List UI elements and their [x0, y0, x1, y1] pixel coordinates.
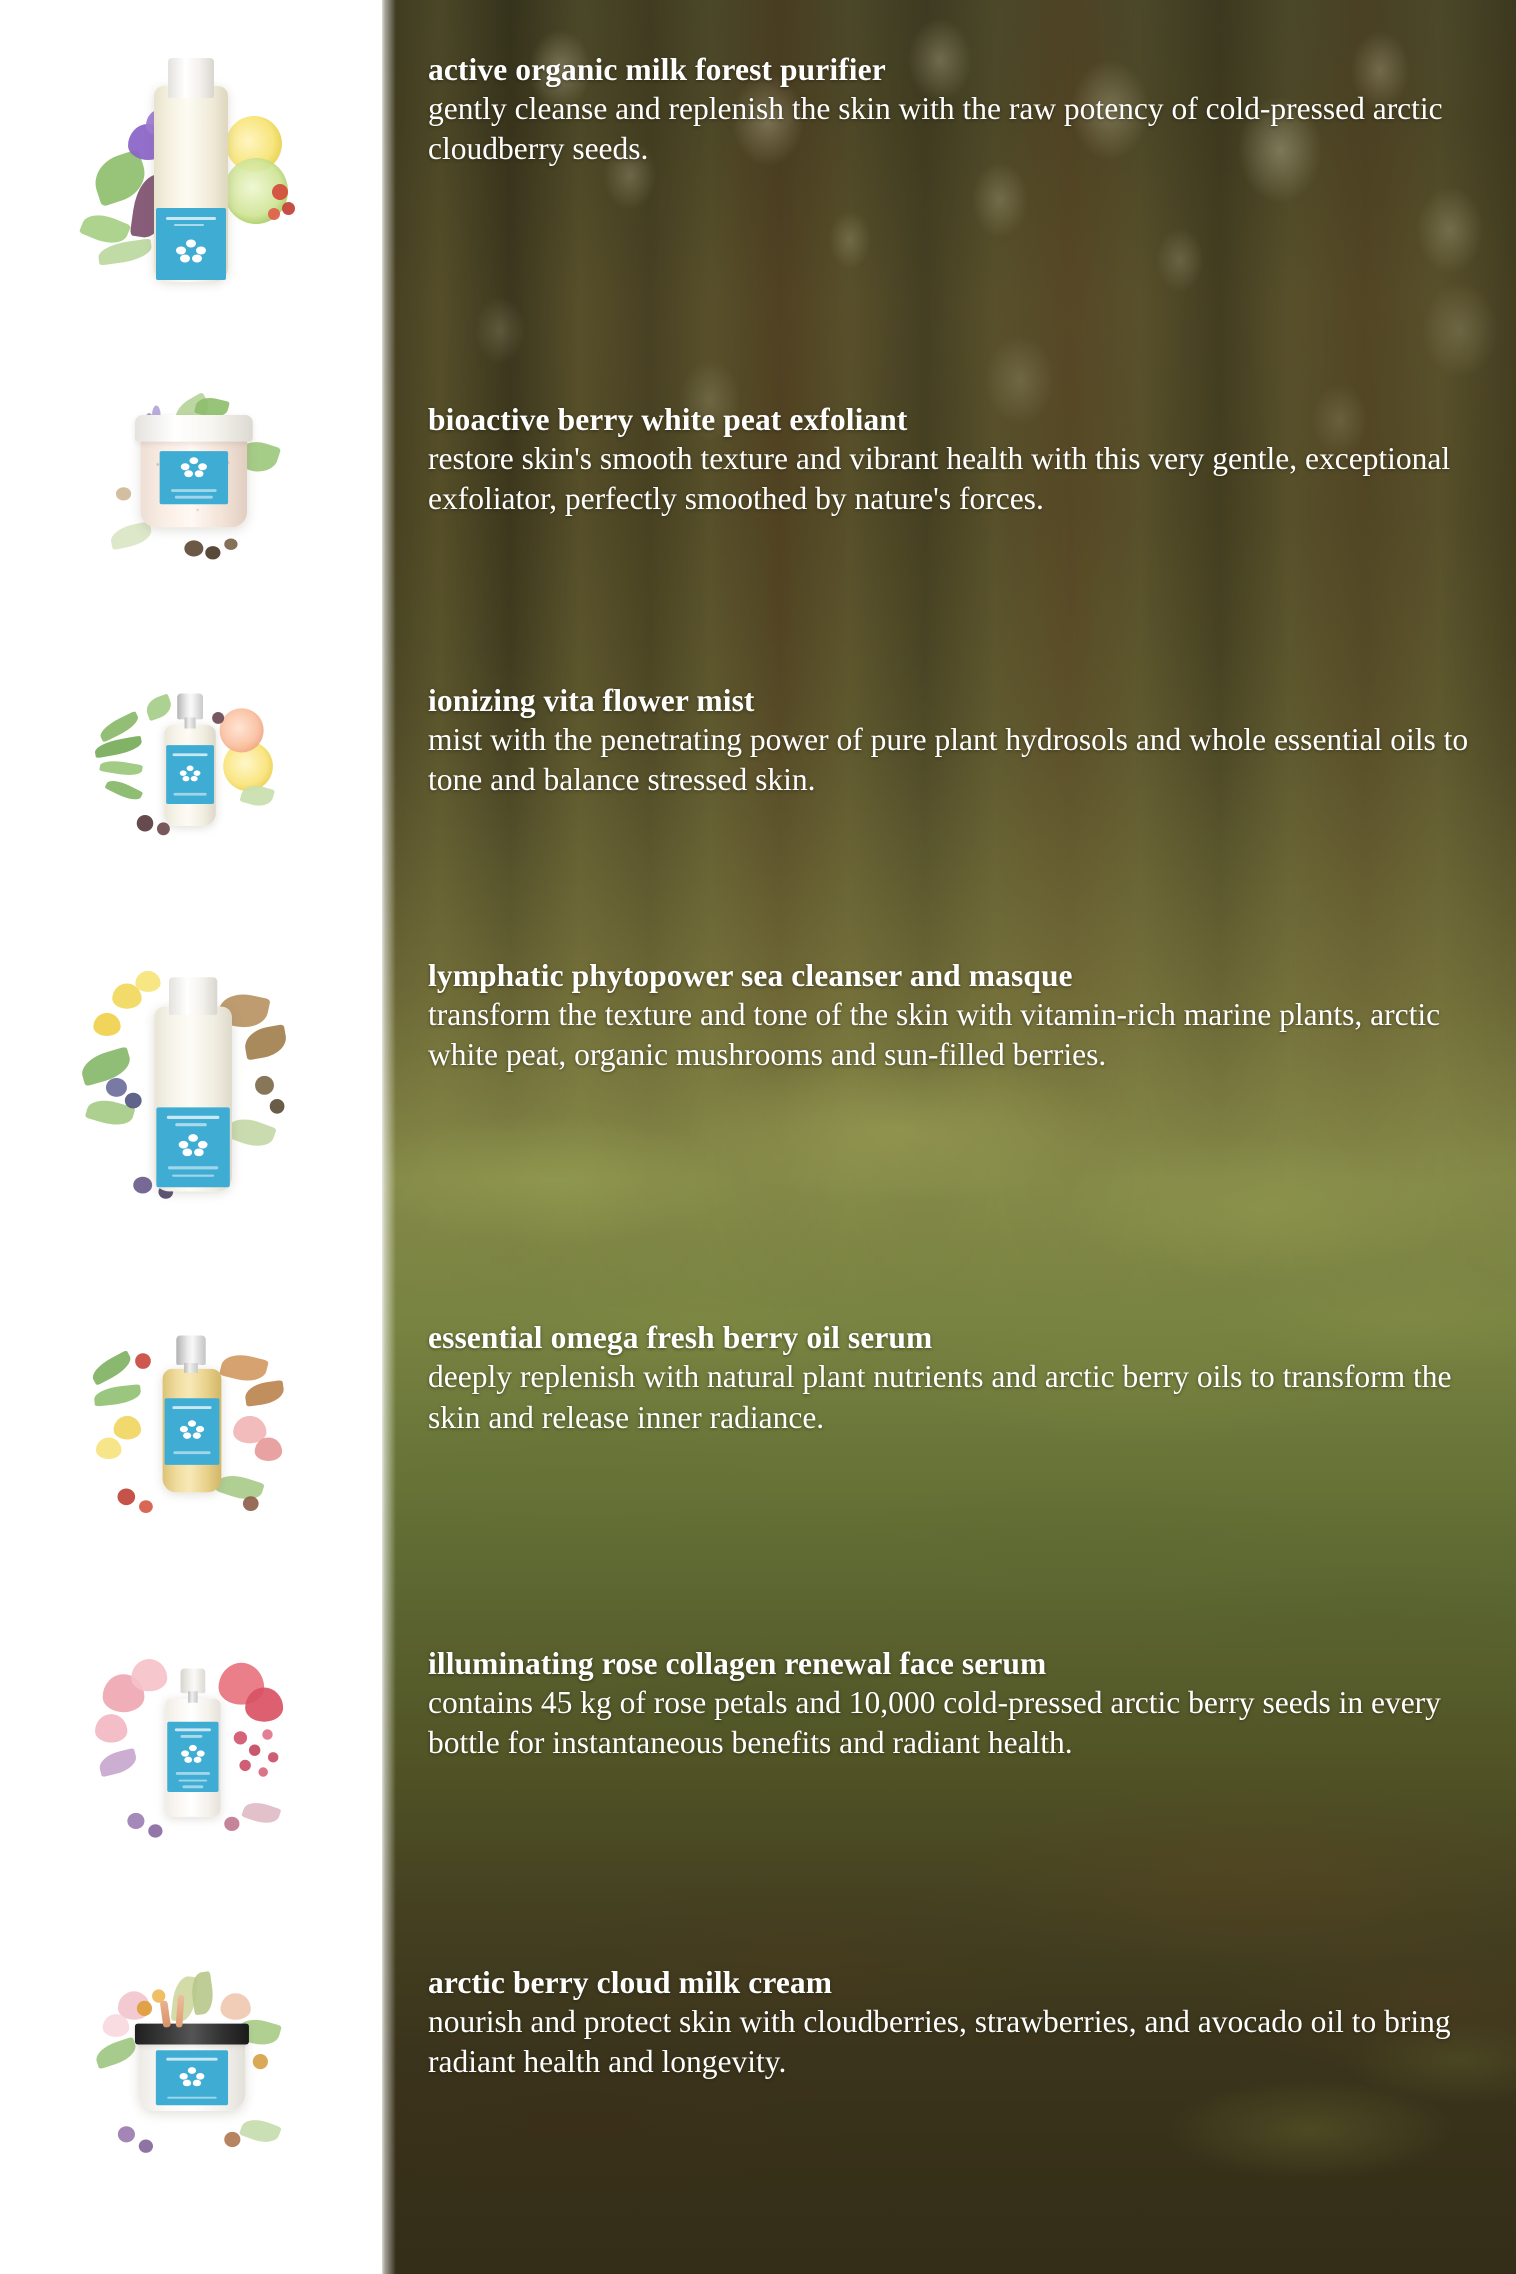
product-row[interactable]: essential omega fresh berry oil serum de…: [0, 1320, 1516, 1545]
mist-collar: [185, 717, 196, 728]
flower-logo-icon: [176, 1133, 210, 1156]
product-image-berry-oil-serum: [0, 1314, 382, 1544]
product-label: [166, 745, 214, 804]
product-title: essential omega fresh berry oil serum: [428, 1320, 1488, 1356]
bottle-cap: [168, 58, 214, 98]
dropper-cap: [176, 1336, 205, 1365]
flower-logo-icon: [180, 1744, 207, 1763]
mist-cap: [177, 693, 203, 719]
product-description: nourish and protect skin with cloudberri…: [428, 2002, 1488, 2083]
product-description: transform the texture and tone of the sk…: [428, 995, 1488, 1076]
product-row[interactable]: lymphatic phytopower sea cleanser and ma…: [0, 958, 1516, 1221]
product-title: ionizing vita flower mist: [428, 683, 1488, 719]
product-image-cloud-milk-cream: [0, 1959, 382, 2189]
product-image-white-peat-exfoliant: [0, 396, 382, 586]
dropper-collar: [184, 1363, 198, 1373]
product-image-rose-collagen-serum: [0, 1640, 382, 1870]
product-label: [156, 2050, 228, 2105]
product-row[interactable]: active organic milk forest purifier gent…: [0, 52, 1516, 302]
product-title: bioactive berry white peat exfoliant: [428, 402, 1488, 438]
product-row[interactable]: ionizing vita flower mist mist with the …: [0, 683, 1516, 858]
product-image-vita-flower-mist: [0, 677, 382, 867]
flower-logo-icon: [178, 765, 202, 782]
product-row[interactable]: arctic berry cloud milk cream nourish an…: [0, 1965, 1516, 2184]
product-copy: illuminating rose collagen renewal face …: [428, 1646, 1488, 1764]
product-label: [156, 1107, 230, 1187]
product-copy: ionizing vita flower mist mist with the …: [428, 683, 1488, 801]
product-title: illuminating rose collagen renewal face …: [428, 1646, 1488, 1682]
product-description: gently cleanse and replenish the skin wi…: [428, 89, 1488, 170]
flower-logo-icon: [174, 238, 208, 262]
product-description: contains 45 kg of rose petals and 10,000…: [428, 1683, 1488, 1764]
product-image-milk-forest-purifier: [0, 46, 382, 296]
flower-logo-icon: [178, 2066, 207, 2086]
product-title: active organic milk forest purifier: [428, 52, 1488, 88]
flower-logo-icon: [179, 457, 209, 478]
pump-stem: [188, 1691, 198, 1702]
flower-logo-icon: [178, 1420, 205, 1440]
product-label: [156, 208, 226, 280]
jar-lid: [135, 2023, 249, 2044]
product-title: arctic berry cloud milk cream: [428, 1965, 1488, 2001]
product-listing-page: active organic milk forest purifier gent…: [0, 0, 1516, 2274]
product-label: [165, 1399, 220, 1466]
jar-lid: [135, 415, 253, 442]
product-title: lymphatic phytopower sea cleanser and ma…: [428, 958, 1488, 994]
product-description: restore skin's smooth texture and vibran…: [428, 439, 1488, 520]
pump-head: [181, 1669, 206, 1694]
product-row[interactable]: illuminating rose collagen renewal face …: [0, 1646, 1516, 1865]
product-copy: essential omega fresh berry oil serum de…: [428, 1320, 1488, 1438]
product-copy: active organic milk forest purifier gent…: [428, 52, 1488, 170]
bottle-cap: [169, 977, 217, 1015]
product-copy: lymphatic phytopower sea cleanser and ma…: [428, 958, 1488, 1076]
product-description: deeply replenish with natural plant nutr…: [428, 1357, 1488, 1438]
product-row[interactable]: bioactive berry white peat exfoliant res…: [0, 402, 1516, 583]
product-copy: bioactive berry white peat exfoliant res…: [428, 402, 1488, 520]
product-label: [160, 451, 228, 504]
product-description: mist with the penetrating power of pure …: [428, 720, 1488, 801]
product-copy: arctic berry cloud milk cream nourish an…: [428, 1965, 1488, 2083]
product-image-sea-cleanser-masque: [0, 952, 382, 1202]
product-label: [167, 1722, 218, 1792]
